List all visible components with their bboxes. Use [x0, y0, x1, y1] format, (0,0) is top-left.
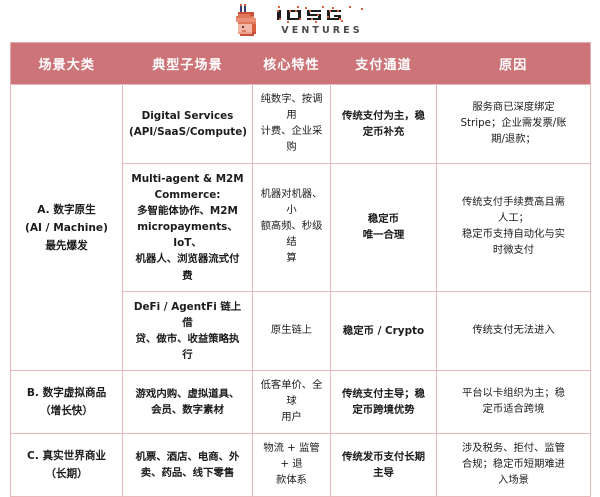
reason-line: Stripe；企业需发票/账: [443, 116, 584, 132]
cell-reason: 平台以卡组织为主；稳 定币适合跨境: [437, 371, 591, 434]
category-line: (AI / Machine): [17, 219, 116, 237]
column-header-category: 场景大类: [11, 43, 123, 85]
subscene-line: 会员、数字素材: [129, 402, 246, 418]
subscene-line: Multi-agent & M2M: [129, 171, 246, 187]
cell-subscene: Digital Services (API/SaaS/Compute): [123, 85, 253, 164]
category-line: B. 数字虚拟商品: [17, 384, 116, 402]
cell-feature: 原生链上: [253, 291, 331, 371]
table-row: B. 数字虚拟商品 （增长快） 游戏内购、虚拟道具、 会员、数字素材 低客单价、…: [11, 371, 591, 434]
subscene-line: Digital Services: [129, 108, 246, 124]
cell-channel: 传统发币支付长期 主导: [331, 434, 437, 497]
reason-line: 期/退款；: [443, 132, 584, 148]
channel-line: 主导: [337, 465, 430, 481]
channel-line: 传统支付为主，稳: [337, 108, 430, 124]
cell-category-c: C. 真实世界商业 （长期）: [11, 434, 123, 497]
feature-line: 原生链上: [259, 323, 324, 339]
feature-line: 物流 + 监管 + 退: [259, 441, 324, 473]
brand-tagline: VENTURES: [278, 26, 362, 36]
category-line: （长期）: [17, 465, 116, 483]
channel-line: 传统发币支付长期: [337, 449, 430, 465]
subscene-line: DeFi / AgentFi 链上借: [129, 299, 246, 331]
subscene-line: 费: [129, 268, 246, 284]
cell-subscene: DeFi / AgentFi 链上借 贷、做市、收益策略执 行: [123, 291, 253, 371]
subscene-line: 多智能体协作、M2M: [129, 203, 246, 219]
brand-header: VENTURES: [0, 0, 600, 42]
subscene-line: 机票、酒店、电商、外: [129, 449, 246, 465]
scenario-matrix-container: 场景大类 典型子场景 核心特性 支付通道 原因 A. 数字原生 (AI / Ma…: [0, 42, 600, 497]
channel-line: 稳定币 / Crypto: [337, 323, 430, 339]
cell-reason: 传统支付无法进入: [437, 291, 591, 371]
cell-reason: 传统支付手续费高且需 人工； 稳定币支持自动化与实 时微支付: [437, 163, 591, 291]
feature-line: 机器对机器、小: [259, 187, 324, 219]
reason-line: 服务商已深度绑定: [443, 100, 584, 116]
subscene-line: 行: [129, 347, 246, 363]
cell-category-a: A. 数字原生 (AI / Machine) 最先爆发: [11, 85, 123, 371]
feature-line: 算: [259, 251, 324, 267]
cell-reason: 涉及税务、拒付、监管 合规；稳定币短期难进 入场景: [437, 434, 591, 497]
table-header: 场景大类 典型子场景 核心特性 支付通道 原因: [11, 43, 591, 85]
subscene-line: (API/SaaS/Compute): [129, 124, 246, 140]
reason-line: 稳定币支持自动化与实: [443, 227, 584, 243]
reason-line: 入场景: [443, 473, 584, 489]
category-line: （增长快）: [17, 402, 116, 420]
channel-line: 定币跨境优势: [337, 402, 430, 418]
channel-line: 唯一合理: [337, 227, 430, 243]
cell-channel: 传统支付主导；稳 定币跨境优势: [331, 371, 437, 434]
table-row: A. 数字原生 (AI / Machine) 最先爆发 Digital Serv…: [11, 85, 591, 164]
cell-subscene: Multi-agent & M2M Commerce: 多智能体协作、M2M m…: [123, 163, 253, 291]
cell-feature: 物流 + 监管 + 退 款体系: [253, 434, 331, 497]
column-header-feature: 核心特性: [253, 43, 331, 85]
feature-line: 计费、企业采购: [259, 124, 324, 156]
table-header-row: 场景大类 典型子场景 核心特性 支付通道 原因: [11, 43, 591, 85]
feature-line: 纯数字、按调用: [259, 92, 324, 124]
feature-line: 额高频、秒级结: [259, 219, 324, 251]
reason-line: 涉及税务、拒付、监管: [443, 441, 584, 457]
iosg-wordmark: [275, 6, 367, 24]
cell-feature: 纯数字、按调用 计费、企业采购: [253, 85, 331, 164]
reason-line: 合规；稳定币短期难进: [443, 457, 584, 473]
reason-line: 平台以卡组织为主；稳: [443, 386, 584, 402]
reason-line: 人工；: [443, 211, 584, 227]
feature-line: 款体系: [259, 473, 324, 489]
brand-wordmark-group: VENTURES: [275, 6, 367, 36]
reason-line: 传统支付无法进入: [443, 323, 584, 339]
scenario-matrix-table: 场景大类 典型子场景 核心特性 支付通道 原因 A. 数字原生 (AI / Ma…: [10, 42, 591, 497]
reason-line: 定币适合跨境: [443, 402, 584, 418]
channel-line: 稳定币: [337, 211, 430, 227]
column-header-subscene: 典型子场景: [123, 43, 253, 85]
column-header-reason: 原因: [437, 43, 591, 85]
cell-channel: 传统支付为主，稳 定币补充: [331, 85, 437, 164]
table-row: C. 真实世界商业 （长期） 机票、酒店、电商、外 卖、药品、线下零售 物流 +…: [11, 434, 591, 497]
cell-channel: 稳定币 唯一合理: [331, 163, 437, 291]
cell-feature: 低客单价、全球 用户: [253, 371, 331, 434]
cell-channel: 稳定币 / Crypto: [331, 291, 437, 371]
column-header-channel: 支付通道: [331, 43, 437, 85]
cell-feature: 机器对机器、小 额高频、秒级结 算: [253, 163, 331, 291]
category-line: C. 真实世界商业: [17, 447, 116, 465]
cell-subscene: 游戏内购、虚拟道具、 会员、数字素材: [123, 371, 253, 434]
channel-line: 传统支付主导；稳: [337, 386, 430, 402]
pixel-bull-icon: [234, 4, 268, 38]
category-line: A. 数字原生: [17, 201, 116, 219]
channel-line: 定币补充: [337, 124, 430, 140]
subscene-line: 游戏内购、虚拟道具、: [129, 386, 246, 402]
cell-reason: 服务商已深度绑定 Stripe；企业需发票/账 期/退款；: [437, 85, 591, 164]
subscene-line: micropayments、IoT、: [129, 219, 246, 251]
subscene-line: Commerce:: [129, 187, 246, 203]
cell-subscene: 机票、酒店、电商、外 卖、药品、线下零售: [123, 434, 253, 497]
subscene-line: 卖、药品、线下零售: [129, 465, 246, 481]
subscene-line: 机器人、浏览器流式付: [129, 251, 246, 267]
table-body: A. 数字原生 (AI / Machine) 最先爆发 Digital Serv…: [11, 85, 591, 497]
reason-line: 时微支付: [443, 243, 584, 259]
reason-line: 传统支付手续费高且需: [443, 195, 584, 211]
category-line: 最先爆发: [17, 237, 116, 255]
subscene-line: 贷、做市、收益策略执: [129, 331, 246, 347]
feature-line: 低客单价、全球: [259, 378, 324, 410]
cell-category-b: B. 数字虚拟商品 （增长快）: [11, 371, 123, 434]
